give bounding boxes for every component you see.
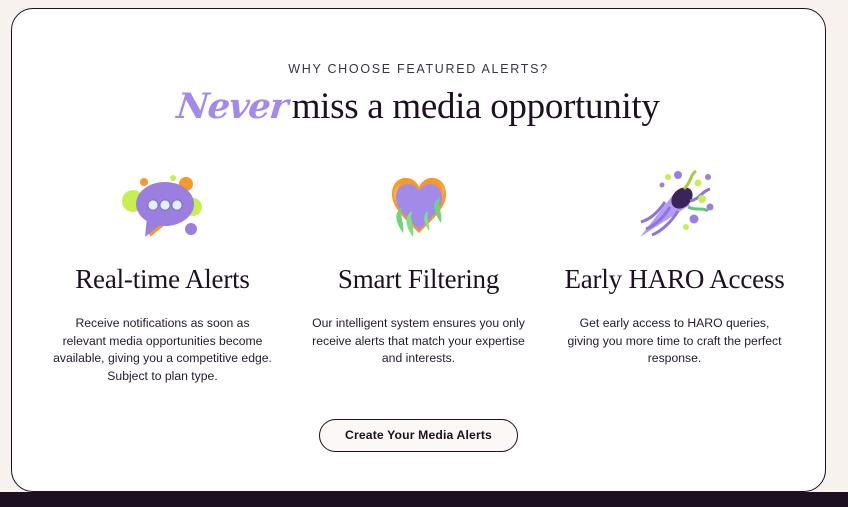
feature-column: Early HARO Access Get early access to HA… (547, 164, 803, 368)
feature-title: Real-time Alerts (43, 264, 283, 295)
headline-script-word: Never (175, 86, 290, 127)
section-headline: Nevermiss a media opportunity (12, 85, 825, 128)
feature-column: Real-time Alerts Receive notifications a… (35, 164, 291, 385)
feature-title: Smart Filtering (299, 264, 539, 295)
feature-body: Receive notifications as soon as relevan… (43, 315, 283, 385)
headline-rest: miss a media opportunity (292, 86, 660, 127)
speech-bubble-icon (43, 164, 283, 250)
cta-row: Create Your Media Alerts (12, 419, 825, 452)
feature-body: Our intelligent system ensures you only … (299, 315, 539, 368)
features-card: WHY CHOOSE FEATURED ALERTS? Nevermiss a … (11, 8, 826, 492)
page-root: WHY CHOOSE FEATURED ALERTS? Nevermiss a … (0, 0, 848, 507)
feature-columns: Real-time Alerts Receive notifications a… (12, 164, 825, 385)
party-popper-icon (555, 164, 795, 250)
feature-body: Get early access to HARO queries, giving… (555, 315, 795, 368)
heart-on-fire-icon (299, 164, 539, 250)
feature-title: Early HARO Access (555, 264, 795, 295)
page-bottom-band (0, 492, 848, 507)
create-media-alerts-button[interactable]: Create Your Media Alerts (319, 419, 518, 452)
feature-column: Smart Filtering Our intelligent system e… (291, 164, 547, 368)
section-eyebrow: WHY CHOOSE FEATURED ALERTS? (12, 62, 825, 76)
